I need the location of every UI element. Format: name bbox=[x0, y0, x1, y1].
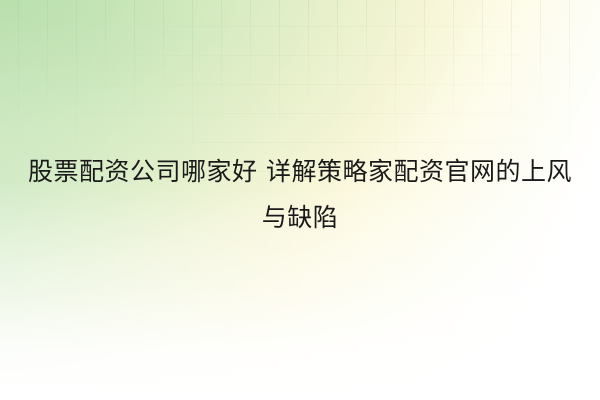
background-bottom-fade bbox=[0, 0, 600, 400]
banner-image: 股票配资公司哪家好 详解策略家配资官网的上风与缺陷 bbox=[0, 0, 600, 400]
